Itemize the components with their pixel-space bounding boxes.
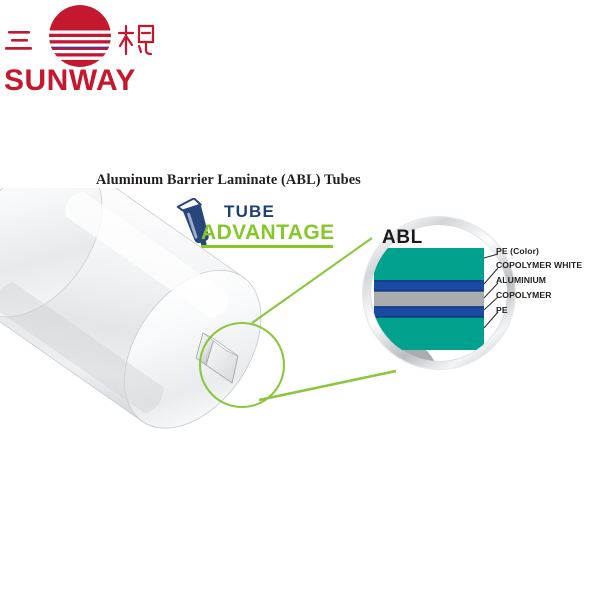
layer-label-copolymer-white: COPOLYMER WHITE — [496, 260, 582, 270]
brand-logo: SUNWAY — [0, 2, 180, 102]
layer-label-pe: PE — [496, 305, 508, 315]
layer-label-copolymer: COPOLYMER — [496, 290, 552, 300]
layer-label-aluminium: ALUMINIUM — [496, 275, 546, 285]
layer-label-list: PE (Color) COPOLYMER WHITE ALUMINIUM COP… — [496, 246, 600, 330]
cutaway-locator-circle — [200, 323, 284, 407]
product-illustration-canvas: SUNWAY Aluminum Barrier Laminate (ABL) T… — [0, 0, 600, 600]
laminate-layer-stack — [374, 248, 484, 350]
layer-label-pe-color: PE (Color) — [496, 246, 539, 256]
magnifier-title: ABL — [382, 227, 423, 249]
brand-name: SUNWAY — [4, 64, 154, 98]
page-title: Aluminum Barrier Laminate (ABL) Tubes — [96, 172, 426, 189]
